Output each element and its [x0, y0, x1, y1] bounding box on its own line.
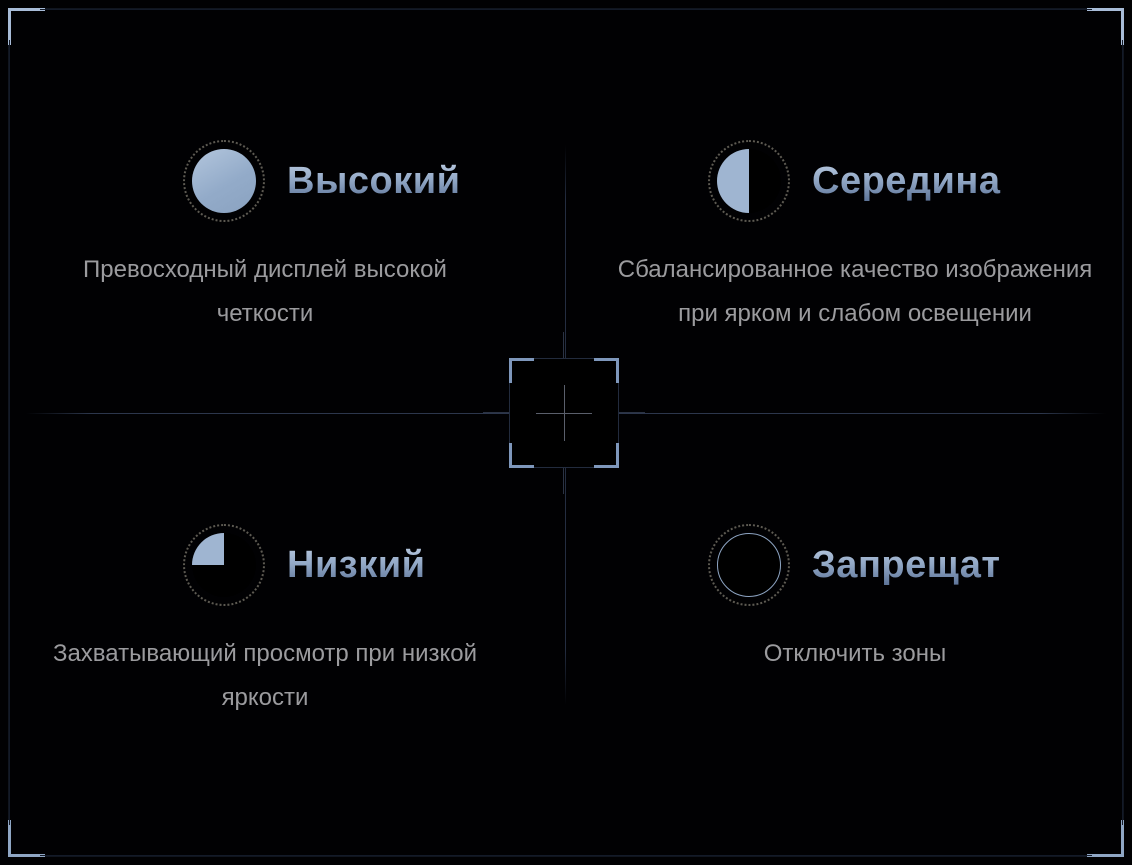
crosshair-tick-bottom: [563, 468, 564, 494]
disc-quarter: [192, 533, 256, 597]
icon-glyph: [192, 149, 256, 213]
option-title-low: Низкий: [287, 544, 425, 587]
option-description-low: Захватывающий просмотр при низкой яркост…: [50, 632, 550, 720]
icon-glyph: [717, 149, 781, 213]
circle-empty-icon: [708, 524, 790, 606]
frame-corner-bottom-right: [1087, 820, 1124, 857]
option-header-low: Низкий: [50, 524, 550, 606]
option-card-low[interactable]: Низкий Захватывающий просмотр при низкой…: [50, 524, 550, 720]
option-description-middle: Сбалансированное качество изображения пр…: [600, 248, 1100, 336]
frame-edge-left: [9, 40, 10, 825]
crosshair-corner-top-left: [509, 358, 534, 383]
frame-corner-top-right: [1087, 8, 1124, 45]
disc-full: [192, 149, 256, 213]
frame-edge-right: [1122, 40, 1123, 825]
option-header-disabled: Запрещат: [600, 524, 1100, 606]
icon-glyph: [192, 533, 256, 597]
option-description-disabled: Отключить зоны: [600, 632, 1100, 676]
frame-corner-top-left: [8, 8, 45, 45]
circle-half-icon: [708, 140, 790, 222]
option-header-middle: Середина: [600, 140, 1100, 222]
option-description-high: Превосходный дисплей высокой четкости: [50, 248, 550, 336]
crosshair-tick-top: [563, 332, 564, 358]
crosshair-corner-top-right: [594, 358, 619, 383]
circle-quarter-icon: [183, 524, 265, 606]
crosshair-tick-left: [483, 412, 509, 413]
crosshair-plus-vertical: [564, 385, 565, 441]
option-card-high[interactable]: Высокий Превосходный дисплей высокой чет…: [50, 140, 550, 336]
disc-empty: [717, 533, 781, 597]
option-title-high: Высокий: [287, 160, 460, 203]
disc-half: [717, 149, 781, 213]
option-title-disabled: Запрещат: [812, 544, 1001, 587]
frame-edge-top: [40, 9, 1092, 10]
icon-glyph: [717, 533, 781, 597]
center-crosshair[interactable]: [509, 358, 619, 468]
circle-full-icon: [183, 140, 265, 222]
option-card-middle[interactable]: Середина Сбалансированное качество изобр…: [600, 140, 1100, 336]
frame-edge-bottom: [40, 855, 1092, 856]
crosshair-corner-bottom-right: [594, 443, 619, 468]
option-header-high: Высокий: [50, 140, 550, 222]
frame-corner-bottom-left: [8, 820, 45, 857]
hud-screen: Высокий Превосходный дисплей высокой чет…: [0, 0, 1132, 865]
crosshair-tick-right: [619, 412, 645, 413]
crosshair-corner-bottom-left: [509, 443, 534, 468]
option-card-disabled[interactable]: Запрещат Отключить зоны: [600, 524, 1100, 676]
option-title-middle: Середина: [812, 160, 1001, 203]
